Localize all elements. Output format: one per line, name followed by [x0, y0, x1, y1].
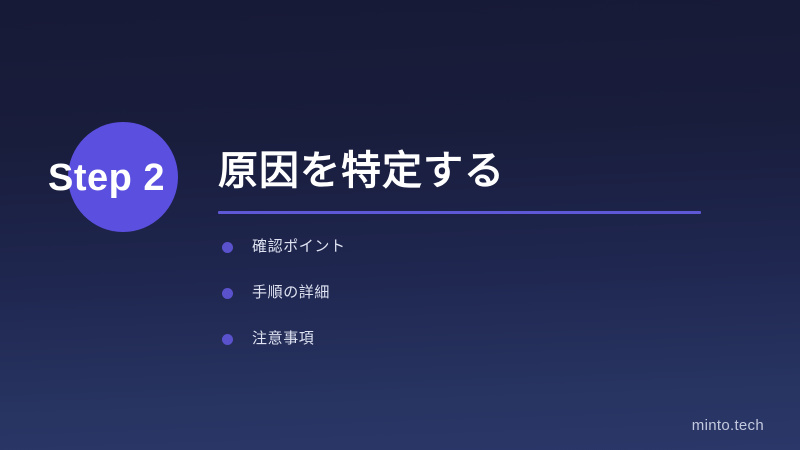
list-item-label: 注意事項: [252, 324, 314, 354]
step-label: Step 2: [48, 155, 208, 201]
list-item-label: 手順の詳細: [252, 278, 330, 308]
list-item-label: 確認ポイント: [252, 232, 346, 262]
page-title: 原因を特定する: [218, 146, 708, 196]
bullet-dot-icon: [222, 334, 233, 345]
footer-brand: minto.tech: [692, 417, 764, 434]
title-block: 原因を特定する: [218, 146, 708, 214]
title-divider: [218, 211, 701, 214]
bullet-dot-icon: [222, 242, 233, 253]
bullet-dot-icon: [222, 288, 233, 299]
list-item: 手順の詳細: [222, 278, 702, 308]
presentation-slide: Step 2 原因を特定する 確認ポイント 手順の詳細 注意事項 minto.t…: [0, 0, 800, 450]
list-item: 注意事項: [222, 324, 702, 354]
bullet-list: 確認ポイント 手順の詳細 注意事項: [222, 232, 702, 370]
list-item: 確認ポイント: [222, 232, 702, 262]
